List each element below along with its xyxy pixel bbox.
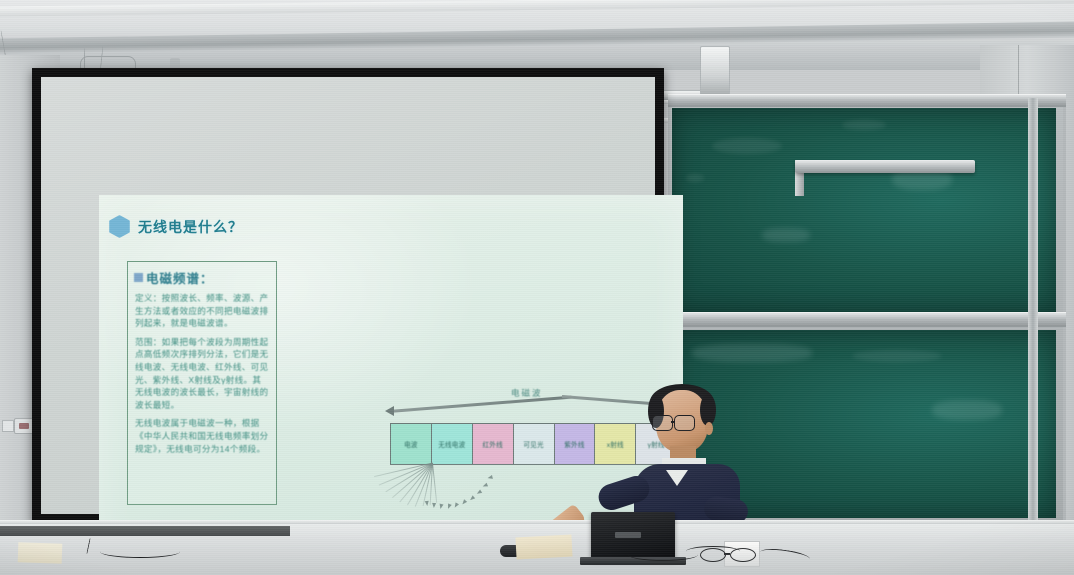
projection-screen: 无线电是什么？ ★ ★ ★ 电磁频谱： 定义：按照波长、频率、波源、产生方法或者… (32, 68, 664, 523)
spectrum-ray-head-icon (446, 504, 452, 510)
blackboard-rail-top (668, 94, 1066, 107)
chalk-smudge (686, 174, 704, 182)
laptop-logo (615, 532, 641, 538)
hexagon-icon (109, 215, 130, 238)
square-bullet-icon (134, 273, 143, 282)
spectrum-segment-label: 无线电波 (438, 439, 465, 449)
definition-card-heading: 电磁频谱： (134, 268, 214, 287)
wall-outlet-small (2, 420, 14, 432)
ear (705, 422, 713, 435)
spectrum-segment-label: 红外线 (482, 439, 502, 449)
slide-title-text: 无线电是什么？ (138, 217, 243, 237)
spectrum-ray-head-icon (468, 495, 474, 501)
screen-surface: 无线电是什么？ ★ ★ ★ 电磁频谱： 定义：按照波长、频率、波源、产生方法或者… (41, 77, 655, 514)
eyeglasses-bridge (671, 421, 675, 423)
chalk-smudge (712, 138, 782, 154)
spectrum-ray-head-icon (453, 502, 459, 508)
chalk-smudge (692, 344, 812, 362)
spectrum-segment-label: 紫外线 (564, 439, 584, 449)
spectrum-segment-label: 电波 (404, 439, 418, 449)
spectrum-segment: 紫外线 (555, 424, 596, 464)
blackboard-panel-upper (672, 108, 1056, 313)
chalk-smudge (842, 120, 886, 130)
blackboard-slider-arm (795, 160, 975, 173)
chalk-smudge (852, 350, 942, 362)
chalk-smudge (932, 400, 1002, 420)
projected-slide: 无线电是什么？ ★ ★ ★ 电磁频谱： 定义：按照波长、频率、波源、产生方法或者… (99, 195, 683, 557)
papers-left (18, 542, 63, 564)
spectrum-segment-label: 可见光 (523, 439, 543, 449)
spectrum-segment: 可见光 (514, 424, 555, 464)
spectrum-segment: 电波 (391, 424, 432, 464)
cable-2 (628, 548, 698, 561)
spectrum-arrow-label: 电磁波 (511, 387, 543, 399)
spectrum-ray-head-icon (461, 499, 467, 505)
slide-title: 无线电是什么？ (109, 215, 243, 238)
spectrum-ray-head-icon (475, 490, 481, 496)
desk-shadow-strip (0, 526, 290, 536)
spectrum-segment: 无线电波 (432, 424, 473, 464)
eyeglasses-lens-left (652, 415, 673, 431)
eyeglasses-lens-right (674, 415, 695, 431)
spectrum-ray-head-icon (487, 475, 493, 480)
spectrum-ray-head-icon (482, 483, 488, 489)
definition-card: 电磁频谱： 定义：按照波长、频率、波源、产生方法或者效应的不同把电磁波排列起来，… (127, 261, 277, 505)
arrow-head-left-icon (385, 406, 394, 416)
definition-paragraph: 无线电波属于电磁波一种，根据《中华人民共和国无线电频率划分规定》，无线电可分为1… (135, 417, 270, 455)
cable-5 (100, 545, 180, 558)
definition-paragraph: 定义：按照波长、频率、波源、产生方法或者效应的不同把电磁波排列起来，就是电磁波谱… (135, 292, 270, 330)
spectrum-ray-head-icon (438, 504, 443, 510)
spectrum-arrow-left (389, 396, 572, 413)
blackboard-divider-right (1028, 98, 1038, 523)
spectrum-ray (432, 463, 437, 503)
chalk-smudge (762, 228, 810, 242)
spectrum-segment: 红外线 (473, 424, 514, 464)
definition-heading-text: 电磁频谱： (146, 268, 214, 287)
spectrum-ray-head-icon (432, 503, 436, 508)
papers-center (515, 535, 572, 560)
classroom-photo: 无线电是什么？ ★ ★ ★ 电磁频谱： 定义：按照波长、频率、波源、产生方法或者… (0, 0, 1074, 575)
blackboard-rail-middle (668, 312, 1066, 327)
definition-paragraph: 范围：如果把每个波段为周期性起点高低频次序排列分法，它们是无线电波、无线电波、红… (135, 336, 270, 412)
definition-card-body: 定义：按照波长、频率、波源、产生方法或者效应的不同把电磁波排列起来，就是电磁波谱… (135, 292, 270, 461)
